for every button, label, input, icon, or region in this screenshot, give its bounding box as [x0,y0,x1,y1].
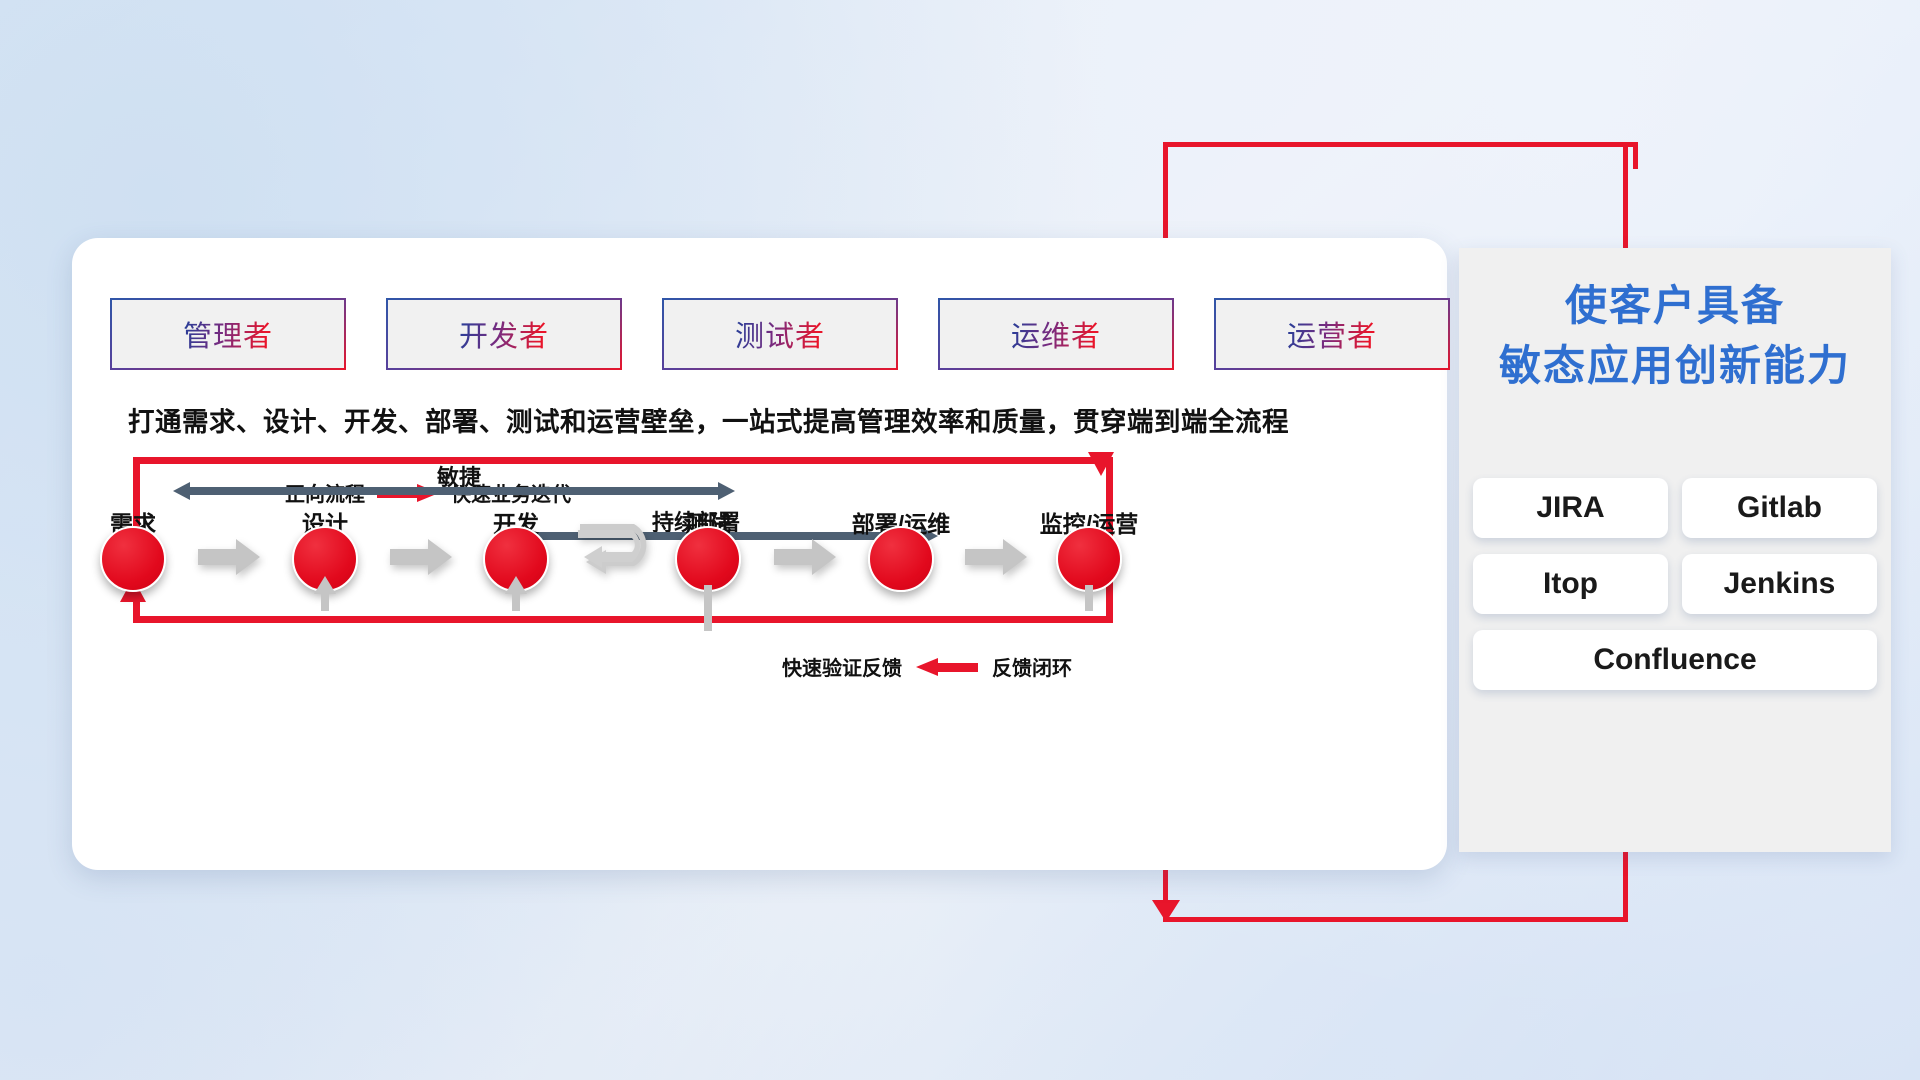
tool-itop[interactable]: Itop [1473,554,1668,614]
role-box-developer[interactable]: 开发者 [388,300,620,368]
connector-arrow-icon [196,537,262,577]
loop-arrow-down-icon [1088,452,1114,476]
node-stem [1085,585,1093,611]
tool-confluence[interactable]: Confluence [1473,630,1877,690]
role-label: 管理者 [183,313,273,355]
role-box-manager[interactable]: 管理者 [112,300,344,368]
node-stem [704,585,712,631]
stage-node-monitor-run[interactable] [1056,526,1122,592]
stage-node-requirement[interactable] [100,526,166,592]
role-label: 开发者 [459,313,549,355]
left-arrow-icon [916,660,978,674]
connector-arrow-icon [772,537,838,577]
role-box-ops[interactable]: 运维者 [940,300,1172,368]
capability-panel: 使客户具备 敏态应用创新能力 JIRA Gitlab Itop Jenkins … [1459,248,1891,852]
panel-title-line1: 使客户具备 [1459,276,1891,336]
panel-title: 使客户具备 敏态应用创新能力 [1459,276,1891,395]
role-box-row: 管理者 开发者 测试者 运维者 运营者 [112,300,1448,368]
role-label: 测试者 [735,313,825,355]
ci-loop-arrow-icon [572,524,668,596]
feedback-loop-label: 反馈闭环 [992,652,1072,681]
stage-node-deploy-ops[interactable] [868,526,934,592]
stem-arrow-up-icon [505,576,527,594]
tool-jira[interactable]: JIRA [1473,478,1668,538]
role-label: 运维者 [1011,313,1101,355]
slide-canvas: 管理者 开发者 测试者 运维者 运营者 打通需求、设计、开发、部署、测试和运营壁… [0,0,1920,1080]
fast-verify-label: 快速验证反馈 [782,652,902,681]
description-text: 打通需求、设计、开发、部署、测试和运营壁垒，一站式提高管理效率和质量，贯穿端到端… [128,400,1428,439]
role-label: 运营者 [1287,313,1377,355]
stage-node-test[interactable] [675,526,741,592]
feedback-legend: 快速验证反馈 反馈闭环 [782,652,1072,681]
role-box-tester[interactable]: 测试者 [664,300,896,368]
role-box-operations[interactable]: 运营者 [1216,300,1448,368]
connector-arrow-icon [388,537,454,577]
stem-arrow-up-icon [314,576,336,594]
tool-jenkins[interactable]: Jenkins [1682,554,1877,614]
connector-arrow-icon [963,537,1029,577]
panel-title-line2: 敏态应用创新能力 [1459,336,1891,396]
tool-list: JIRA Gitlab Itop Jenkins Confluence [1473,478,1877,690]
agile-arrow [173,482,735,500]
tool-gitlab[interactable]: Gitlab [1682,478,1877,538]
